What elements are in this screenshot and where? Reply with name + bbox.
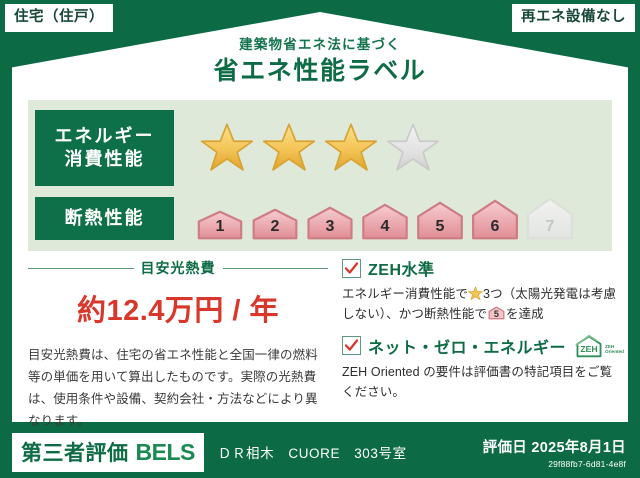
energy-tag-line2: 消費性能 — [55, 148, 155, 171]
insulation-level-3: 3 — [304, 206, 356, 240]
insulation-performance-tag: 断熱性能 — [35, 197, 174, 240]
badge-renewable-energy: 再エネ設備なし — [512, 4, 635, 32]
energy-performance-row: エネルギー 消費性能 — [28, 105, 612, 190]
utility-cost-value: 約12.4万円 / 年 — [28, 287, 328, 329]
insulation-chip-value: 5 — [488, 307, 505, 322]
energy-tag-line1: エネルギー — [55, 125, 155, 148]
insulation-level-2-label: 2 — [249, 218, 301, 236]
zeh-standard-desc: エネルギー消費性能で3つ（太陽光発電は考慮しない）、かつ断熱性能で5を達成 — [342, 284, 624, 325]
heading-rule-right — [223, 268, 329, 269]
insulation-level-7-label: 7 — [524, 218, 576, 236]
bels-label-en: BELS — [136, 439, 195, 466]
zeh-netzero-block: ネット・ゼロ・エネルギー ZEH ZEH Oriented ZEH Ori — [342, 334, 624, 403]
zeh-netzero-title-row: ネット・ゼロ・エネルギー ZEH ZEH Oriented — [342, 334, 624, 358]
lower-content: 目安光熱費 約12.4万円 / 年 目安光熱費は、住宅の省エネ性能と全国一律の燃… — [28, 256, 612, 406]
insulation-level-2: 2 — [249, 208, 301, 240]
evaluation-date: 評価日 2025年8月1日 — [483, 436, 626, 457]
performance-panel: エネルギー 消費性能 — [28, 100, 612, 251]
zeh-standard-title: ZEH水準 — [368, 256, 435, 280]
insulation-performance-row: 断熱性能 1 2 3 4 — [28, 192, 612, 244]
check-icon — [344, 338, 359, 353]
insulation-chip-inline: 5 — [488, 306, 505, 320]
zeh-netzero-desc: ZEH Oriented の要件は評価書の特記項目をご覧ください。 — [342, 362, 624, 403]
utility-cost-heading: 目安光熱費 — [28, 258, 328, 278]
star-icon-filled-3 — [324, 121, 378, 175]
utility-cost-column: 目安光熱費 約12.4万円 / 年 目安光熱費は、住宅の省エネ性能と全国一律の燃… — [28, 256, 328, 406]
badge-housing-type: 住宅（住戸） — [5, 4, 113, 32]
check-icon — [344, 261, 359, 276]
insulation-level-6: 6 — [469, 199, 521, 240]
evaluation-id: 29f88fb7-6d81-4e8f — [483, 459, 626, 469]
evaluation-info: 評価日 2025年8月1日 29f88fb7-6d81-4e8f — [483, 436, 626, 469]
zeh-standard-block: ZEH水準 エネルギー消費性能で3つ（太陽光発電は考慮しない）、かつ断熱性能で5… — [342, 256, 624, 325]
star-icon-filled-2 — [262, 121, 316, 175]
energy-performance-tag: エネルギー 消費性能 — [35, 110, 174, 186]
zeh-logo-subtext: ZEH Oriented — [605, 344, 624, 358]
insulation-level-5: 5 — [414, 201, 466, 240]
star-icon-filled-1 — [200, 121, 254, 175]
heading-rule-left — [28, 268, 134, 269]
insulation-level-3-label: 3 — [304, 218, 356, 236]
checkbox-zeh-netzero[interactable] — [342, 336, 361, 355]
insulation-level-scale: 1 2 3 4 5 — [194, 197, 576, 240]
zeh-house-icon: ZEH — [575, 334, 603, 358]
utility-cost-note: 目安光熱費は、住宅の省エネ性能と全国一律の燃料等の単価を用いて算出したものです。… — [28, 345, 328, 433]
bels-label-jp: 第三者評価 — [21, 437, 129, 467]
checkbox-zeh-standard[interactable] — [342, 259, 361, 278]
zeh-logo-sub-line1: ZEH — [605, 344, 614, 349]
zeh-logo: ZEH ZEH Oriented — [575, 334, 624, 358]
insulation-level-1: 1 — [194, 210, 246, 240]
star-icon-inline — [468, 286, 483, 301]
star-rating — [200, 121, 440, 175]
energy-performance-label: 住宅（住戸） 再エネ設備なし 建築物省エネ法に基づく 省エネ性能ラベル エネルギ… — [0, 0, 640, 478]
zeh-netzero-title: ネット・ゼロ・エネルギー — [368, 334, 566, 358]
zeh-logo-sub-line2: Oriented — [605, 349, 624, 354]
insulation-level-5-label: 5 — [414, 218, 466, 236]
insulation-level-4: 4 — [359, 203, 411, 240]
bels-badge: 第三者評価 BELS — [12, 433, 204, 472]
header: 建築物省エネ法に基づく 省エネ性能ラベル — [0, 38, 640, 85]
insulation-level-4-label: 4 — [359, 218, 411, 236]
page-title: 省エネ性能ラベル — [0, 58, 640, 86]
footer-bar: 第三者評価 BELS ＤＲ相木 CUORE 303号室 評価日 2025年8月1… — [0, 426, 640, 478]
star-icon-empty-4 — [386, 121, 440, 175]
header-subtitle: 建築物省エネ法に基づく — [0, 38, 640, 53]
insulation-level-6-label: 6 — [469, 218, 521, 236]
utility-cost-heading-label: 目安光熱費 — [141, 258, 216, 278]
zeh-standard-title-row: ZEH水準 — [342, 256, 624, 280]
zeh-desc-part1: エネルギー消費性能で — [342, 287, 468, 301]
zeh-column: ZEH水準 エネルギー消費性能で3つ（太陽光発電は考慮しない）、かつ断熱性能で5… — [328, 256, 624, 406]
insulation-level-7: 7 — [524, 197, 576, 240]
insulation-level-1-label: 1 — [194, 218, 246, 236]
zeh-desc-part2: を達成 — [506, 307, 544, 321]
building-name: ＤＲ相木 CUORE 303号室 — [218, 442, 407, 462]
svg-text:ZEH: ZEH — [580, 344, 597, 354]
